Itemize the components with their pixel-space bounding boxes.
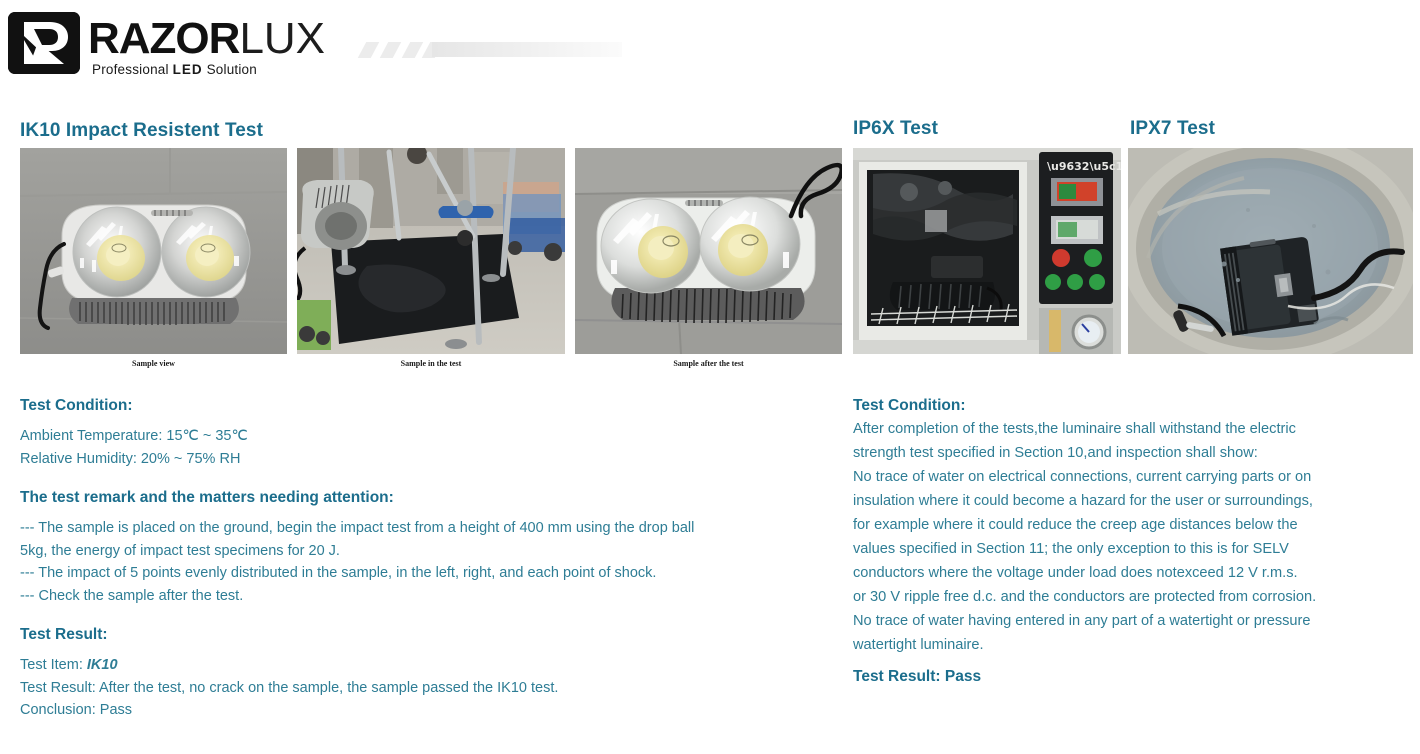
page-header: RAZORLUX Professional LED Solution — [0, 0, 1420, 100]
brand-tagline: Professional LED Solution — [92, 62, 257, 77]
photo-dust-chamber: \u9632\u5c18\u8bd5\u9a8c\u7bb1 — [853, 148, 1121, 354]
ik10-details: Test Condition: Ambient Temperature: 15℃… — [20, 396, 830, 722]
section-title-ik10: IK10 Impact Resistent Test — [20, 120, 263, 142]
remark-line-3: --- The impact of 5 points evenly distri… — [20, 562, 830, 585]
ipx7-condition-line-3: No trace of water on electrical connecti… — [853, 465, 1413, 489]
razorlux-r-logo-icon — [8, 12, 80, 74]
label-test-result: Test Result: — [20, 625, 830, 644]
svg-text:\u9632\u5c18\u8bd5\u9a8c\u7bb1: \u9632\u5c18\u8bd5\u9a8c\u7bb1 — [1047, 160, 1121, 173]
ipx7-condition-line-10: watertight luminaire. — [853, 633, 1413, 657]
ipx7-condition-line-8: or 30 V ripple free d.c. and the conduct… — [853, 585, 1413, 609]
decorative-slashes — [362, 42, 442, 58]
ipx7-test-result-line: Test Result: Pass — [853, 667, 1413, 686]
remark-line-2: 5kg, the energy of impact test specimens… — [20, 540, 830, 563]
decorative-gradient-bar — [432, 42, 622, 57]
slash-2 — [380, 42, 402, 58]
remark-line-1: --- The sample is placed on the ground, … — [20, 517, 830, 540]
photo-caption-sample-view: Sample view — [20, 359, 287, 368]
photo-caption-sample-after-test: Sample after the test — [575, 359, 842, 368]
test-item-line: Test Item: IK10 — [20, 654, 830, 677]
ipx7-details: Test Condition: After completion of the … — [853, 396, 1413, 688]
section-title-ip6x: IP6X Test — [853, 118, 938, 140]
ipx7-condition-line-6: values specified in Section 11; the only… — [853, 537, 1413, 561]
conclusion-line: Conclusion: Pass — [20, 699, 830, 722]
slash-3 — [402, 42, 424, 58]
remark-line-4: --- Check the sample after the test. — [20, 585, 830, 608]
ipx7-condition-line-9: No trace of water having entered in any … — [853, 609, 1413, 633]
test-item-value: IK10 — [87, 657, 118, 673]
tagline-led: LED — [173, 62, 203, 77]
label-test-condition-right: Test Condition: — [853, 396, 1413, 415]
ipx7-condition-line-7: conductors where the voltage under load … — [853, 561, 1413, 585]
photo-water-immersion-tank — [1128, 148, 1413, 354]
slash-1 — [358, 42, 380, 58]
ipx7-condition-line-2: strength test specified in Section 10,an… — [853, 441, 1413, 465]
brand-wordmark-light: LUX — [239, 14, 325, 63]
photo-sample-view — [20, 148, 287, 354]
section-title-ipx7: IPX7 Test — [1130, 118, 1215, 140]
photo-caption-sample-in-test: Sample in the test — [297, 359, 565, 368]
test-result-line: Test Result: After the test, no crack on… — [20, 677, 830, 700]
test-item-prefix: Test Item: — [20, 657, 87, 673]
test-condition-line-2: Relative Humidity: 20% ~ 75% RH — [20, 448, 830, 471]
tagline-pre: Professional — [92, 62, 173, 77]
ipx7-condition-line-4: insulation where it could become a hazar… — [853, 489, 1413, 513]
label-test-remark: The test remark and the matters needing … — [20, 488, 830, 507]
ipx7-condition-line-1: After completion of the tests,the lumina… — [853, 417, 1413, 441]
label-test-condition: Test Condition: — [20, 396, 830, 415]
tagline-post: Solution — [203, 62, 257, 77]
brand-wordmark-bold: RAZOR — [88, 14, 239, 63]
test-condition-line-1: Ambient Temperature: 15℃ ~ 35℃ — [20, 425, 830, 448]
brand-wordmark: RAZORLUX — [88, 16, 325, 62]
ipx7-condition-line-5: for example where it could reduce the cr… — [853, 513, 1413, 537]
photo-sample-after-test — [575, 148, 842, 354]
photo-sample-in-test — [297, 148, 565, 354]
